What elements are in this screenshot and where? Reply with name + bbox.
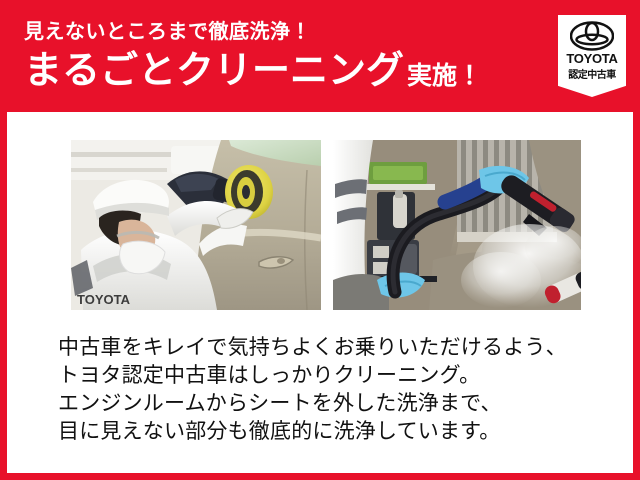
body-copy: 中古車をキレイで気持ちよくお乗りいただけるよう、 トヨタ認定中古車はしっかりクリ… [58,334,598,446]
photo-polishing-art: TOYOTA [71,140,321,310]
content-card: TOYOTA [7,112,633,473]
logo-chevron-shape [558,79,626,97]
headline-row: まるごとクリーニング 実施！ [24,52,524,90]
logo-inner: TOYOTA 認定中古車 [558,15,626,97]
headline-block: 見えないところまで徹底洗浄！ まるごとクリーニング 実施！ [24,22,524,90]
photo-steam-art [333,140,581,310]
photo-polishing: TOYOTA [71,140,321,310]
promo-banner: 見えないところまで徹底洗浄！ まるごとクリーニング 実施！ TOYOTA 認定中… [0,0,640,480]
logo-wordmark: TOYOTA [558,51,626,66]
body-line-2: トヨタ認定中古車はしっかりクリーニング。 [58,362,598,390]
banner-header: 見えないところまで徹底洗浄！ まるごとクリーニング 実施！ TOYOTA 認定中… [0,0,640,112]
toyota-ellipse-emblem [570,21,614,51]
body-line-1: 中古車をキレイで気持ちよくお乗りいただけるよう、 [58,334,598,362]
body-line-3: エンジンルームからシートを外した洗浄まで、 [58,390,598,418]
svg-text:TOYOTA: TOYOTA [77,292,131,307]
kicker-text: 見えないところまで徹底洗浄！ [24,22,524,42]
headline-suffix: 実施！ [407,64,482,90]
toyota-certified-logo: TOYOTA 認定中古車 [558,15,626,97]
logo-sub-label: 認定中古車 [558,66,626,81]
headline-main: まるごとクリーニング [24,52,404,90]
photo-steam-cleaning [333,140,581,310]
body-line-4: 目に見えない部分も徹底的に洗浄しています。 [58,418,598,446]
